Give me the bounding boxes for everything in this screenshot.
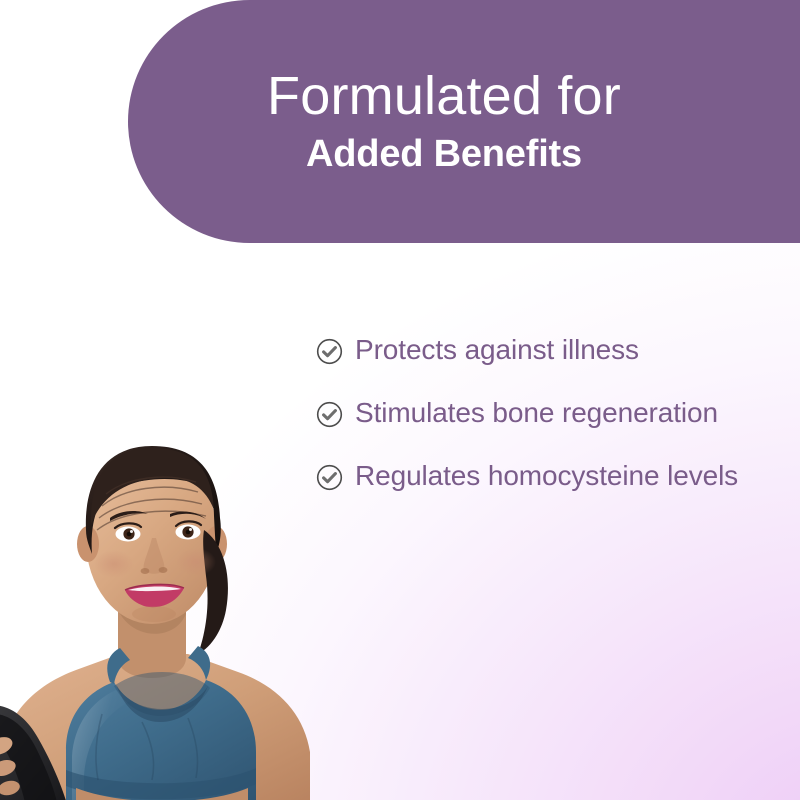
check-circle-icon (316, 464, 343, 491)
benefit-item-1: Protects against illness (316, 332, 790, 369)
header-banner: Formulated for Added Benefits (128, 0, 800, 243)
check-circle-icon (316, 338, 343, 365)
benefit-item-label: Stimulates bone regeneration (355, 395, 718, 432)
header-banner-text: Formulated for Added Benefits (128, 0, 800, 243)
benefit-item-label: Regulates homocysteine levels (355, 458, 738, 495)
check-circle-icon (316, 401, 343, 428)
benefit-item-label: Protects against illness (355, 332, 639, 369)
benefit-item-2: Stimulates bone regeneration (316, 395, 790, 432)
banner-headline-primary: Formulated for (267, 68, 621, 125)
benefits-list: Protects against illness Stimulates bone… (316, 332, 790, 495)
hero-photo-woman (0, 318, 312, 800)
benefit-item-3: Regulates homocysteine levels (316, 458, 790, 495)
promo-graphic: Formulated for Added Benefits Protects a… (0, 0, 800, 800)
banner-headline-secondary: Added Benefits (306, 135, 582, 175)
